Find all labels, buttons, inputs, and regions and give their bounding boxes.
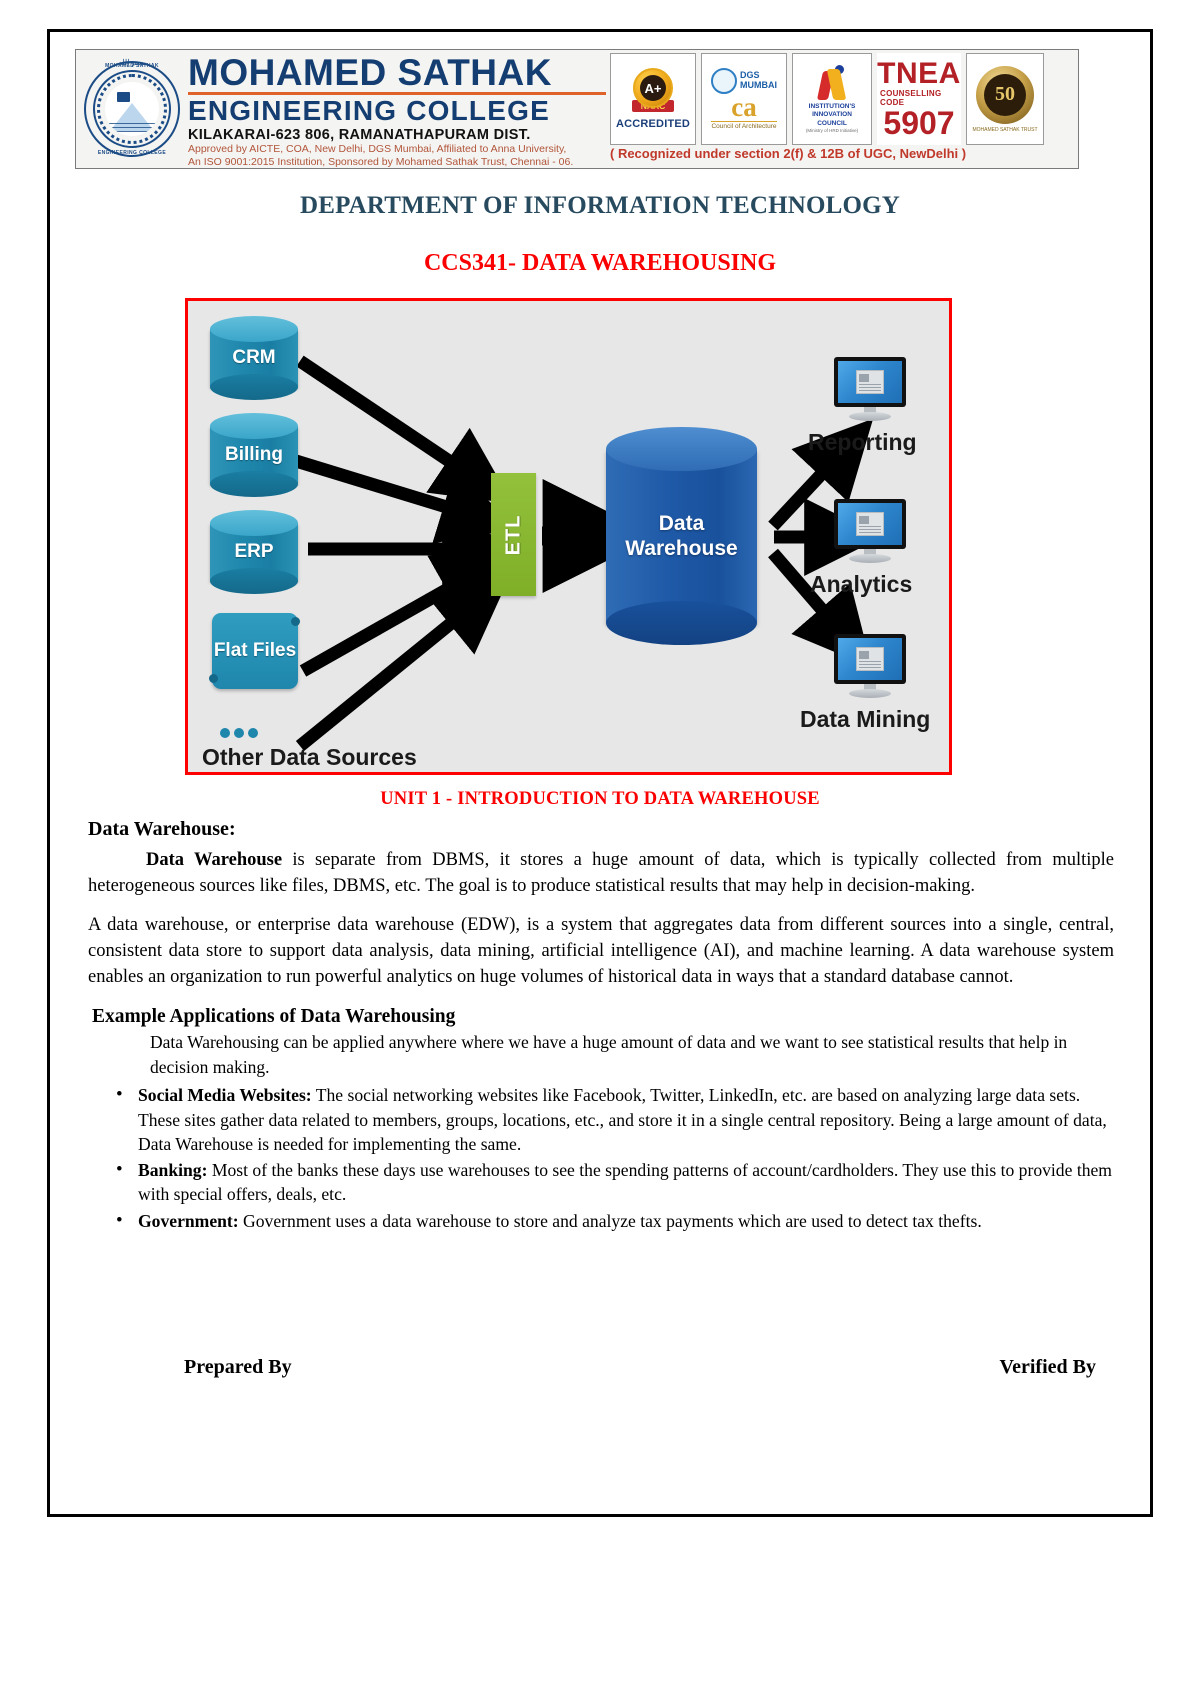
course-title: CCS341- DATA WAREHOUSING (50, 250, 1150, 277)
list-item: Banking: Most of the banks these days us… (88, 1158, 1114, 1207)
source-cylinder-crm: CRM (210, 316, 298, 400)
iic-logo-icon (815, 65, 849, 101)
accreditation-badges: A+ NAAC ACCREDITED DGS MUMBAI (606, 50, 1078, 168)
example-applications-lead: Data Warehousing can be applied anywhere… (88, 1030, 1114, 1079)
etl-process-box: ETL (491, 473, 536, 596)
bullet-text-banking: Most of the banks these days use warehou… (138, 1160, 1112, 1204)
document-body: Data Warehouse: Data Warehouse is separa… (88, 818, 1114, 1235)
document-page: بسم الله MOHAMED SATHAK ENGINEERING COLL… (47, 29, 1153, 1517)
monitor-icon-analytics (834, 499, 906, 563)
list-item: Social Media Websites: The social networ… (88, 1083, 1114, 1156)
coa-mark-icon: ca (731, 95, 756, 119)
example-applications-list: Social Media Websites: The social networ… (88, 1083, 1114, 1233)
naac-badge: A+ NAAC ACCREDITED (610, 53, 696, 145)
bullet-title-social-media: Social Media Websites: (138, 1085, 312, 1105)
college-name-block: MOHAMED SATHAK ENGINEERING COLLEGE KILAK… (188, 50, 606, 168)
college-name-line2: ENGINEERING COLLEGE (188, 96, 606, 125)
tnea-title: TNEA (877, 59, 961, 89)
section-heading-data-warehouse: Data Warehouse: (88, 818, 1114, 841)
source-cylinder-erp: ERP (210, 510, 298, 594)
output-label-reporting: Reporting (808, 429, 917, 456)
college-name-line1: MOHAMED SATHAK (188, 54, 606, 92)
monitor-icon-data-mining (834, 634, 906, 698)
iic-line2: INNOVATION (809, 111, 856, 119)
naac-accredited-label: ACCREDITED (616, 118, 690, 130)
signature-row: Prepared By Verified By (88, 1356, 1114, 1379)
coa-label: Council of Architecture (711, 121, 776, 130)
golden-jubilee-badge: 50 MOHAMED SATHAK TRUST (966, 53, 1044, 145)
department-title: DEPARTMENT OF INFORMATION TECHNOLOGY (50, 192, 1150, 220)
jubilee-seal-icon: 50 (976, 66, 1034, 124)
source-label-billing: Billing (210, 413, 298, 497)
bullet-title-government: Government: (138, 1211, 239, 1231)
verified-by-label: Verified By (1000, 1356, 1114, 1379)
source-label-crm: CRM (210, 316, 298, 400)
jubilee-number: 50 (984, 74, 1026, 116)
section-heading-example-applications: Example Applications of Data Warehousing (88, 1006, 1114, 1028)
college-logo: بسم الله MOHAMED SATHAK ENGINEERING COLL… (76, 50, 188, 168)
crest-top-text: MOHAMED SATHAK (84, 63, 180, 69)
jubilee-label: MOHAMED SATHAK TRUST (972, 127, 1037, 133)
source-label-flat-files: Flat Files (214, 641, 296, 662)
college-letterhead: بسم الله MOHAMED SATHAK ENGINEERING COLL… (75, 49, 1079, 169)
paragraph-definition-lead: Data Warehouse (146, 850, 282, 870)
warehouse-label-line2: Warehouse (625, 536, 737, 561)
iic-badge: INSTITUTION'S INNOVATION COUNCIL (Minist… (792, 53, 872, 145)
crest-bottom-text: ENGINEERING COLLEGE (84, 150, 180, 156)
monitor-icon-reporting (834, 357, 906, 421)
output-label-data-mining: Data Mining (800, 706, 930, 733)
other-data-sources-label: Other Data Sources (202, 744, 417, 771)
dgs-line2: MUMBAI (740, 81, 777, 91)
unit-heading: UNIT 1 - INTRODUCTION TO DATA WAREHOUSE (50, 789, 1150, 810)
dgs-emblem-icon (711, 68, 737, 94)
iic-sub-label: (Ministry of HRD Initiative) (806, 128, 858, 133)
etl-label: ETL (502, 514, 525, 555)
paragraph-edw: A data warehouse, or enterprise data war… (88, 912, 1114, 991)
data-warehouse-architecture-diagram: CRM Billing ERP Flat Files Other Data So… (185, 298, 952, 775)
output-label-analytics: Analytics (810, 571, 912, 598)
college-approval-line2: An ISO 9001:2015 Institution, Sponsored … (188, 156, 606, 169)
naac-grade: A+ (640, 75, 666, 101)
bullet-text-government: Government uses a data warehouse to stor… (239, 1211, 982, 1231)
iic-line3: COUNCIL (809, 120, 856, 128)
source-label-erp: ERP (210, 510, 298, 594)
college-approval-line1: Approved by AICTE, COA, New Delhi, DGS M… (188, 143, 606, 156)
iic-line1: INSTITUTION'S (809, 103, 856, 111)
naac-seal-icon: A+ (633, 68, 673, 108)
tnea-code: 5907 (883, 107, 954, 139)
other-sources-dots-icon (220, 728, 258, 738)
prepared-by-label: Prepared By (88, 1356, 292, 1379)
source-document-flat-files: Flat Files (212, 613, 298, 689)
coa-badge: DGS MUMBAI ca Council of Architecture (701, 53, 787, 145)
data-warehouse-cylinder: Data Warehouse (606, 427, 757, 645)
warehouse-label-line1: Data (659, 511, 705, 536)
paragraph-definition: Data Warehouse is separate from DBMS, it… (88, 847, 1114, 900)
ugc-recognition-text: ( Recognized under section 2(f) & 12B of… (610, 146, 1076, 161)
bullet-title-banking: Banking: (138, 1160, 207, 1180)
source-cylinder-billing: Billing (210, 413, 298, 497)
college-address: KILAKARAI-623 806, RAMANATHAPURAM DIST. (188, 127, 606, 143)
list-item: Government: Government uses a data wareh… (88, 1209, 1114, 1233)
tnea-badge: TNEA COUNSELLING CODE 5907 (877, 53, 961, 145)
college-crest-icon: بسم الله MOHAMED SATHAK ENGINEERING COLL… (84, 61, 180, 157)
